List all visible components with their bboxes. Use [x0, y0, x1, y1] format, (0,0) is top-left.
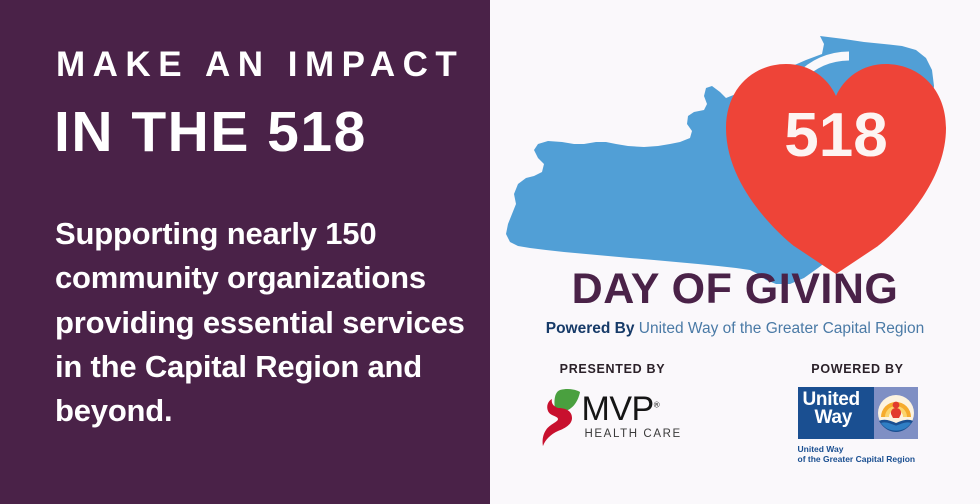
- presented-by-label: PRESENTED BY: [490, 363, 735, 376]
- mvp-brand: MVP®: [582, 392, 682, 426]
- day-of-giving-wordmark: DAY OF GIVING: [506, 268, 964, 311]
- page-title: IN THE 518: [54, 104, 367, 161]
- powered-by-label: Powered By: [546, 320, 635, 337]
- united-way-badge: United Way: [798, 387, 918, 439]
- powered-by-sponsor-label: POWERED BY: [735, 363, 980, 376]
- wordmark-block: DAY OF GIVING Powered By United Way of t…: [506, 268, 964, 337]
- mvp-tagline: HEALTH CARE: [582, 429, 682, 441]
- united-way-hand-rainbow-icon: [874, 387, 918, 439]
- heart-number: 518: [784, 101, 887, 170]
- united-way-logo: United Way: [798, 387, 918, 465]
- sponsor-united-way: POWERED BY United Way: [735, 363, 980, 467]
- sponsor-row: PRESENTED BY MVP® HEALTH CARE POWERED BY: [490, 363, 980, 467]
- powered-by-organization: United Way of the Greater Capital Region: [639, 320, 924, 337]
- day-of-giving-banner: MAKE AN IMPACT IN THE 518 Supporting nea…: [0, 0, 980, 504]
- mvp-health-care-logo: MVP® HEALTH CARE: [538, 387, 688, 449]
- united-way-caption-line1: United Way: [798, 444, 918, 455]
- eyebrow-text: MAKE AN IMPACT: [56, 47, 464, 82]
- new-york-state-heart-icon: 518: [504, 34, 966, 286]
- left-message-panel: MAKE AN IMPACT IN THE 518 Supporting nea…: [0, 0, 490, 504]
- powered-by-line: Powered By United Way of the Greater Cap…: [506, 320, 964, 337]
- registered-mark-icon: ®: [654, 400, 659, 409]
- mvp-brand-text: MVP: [582, 390, 654, 428]
- mvp-apple-leaf-icon: [538, 387, 584, 447]
- united-way-line2: Way: [803, 409, 874, 427]
- united-way-caption-line2: of the Greater Capital Region: [798, 454, 918, 465]
- right-logo-panel: 518 DAY OF GIVING Powered By United Way …: [490, 0, 980, 504]
- united-way-caption: United Way of the Greater Capital Region: [798, 444, 918, 465]
- day-of-giving-logo: 518 DAY OF GIVING Powered By United Way …: [490, 16, 980, 356]
- sponsor-mvp-health-care: PRESENTED BY MVP® HEALTH CARE: [490, 363, 735, 467]
- subcopy-text: Supporting nearly 150 community organiza…: [55, 212, 475, 434]
- mvp-text-block: MVP® HEALTH CARE: [582, 392, 682, 441]
- united-way-symbol-panel: [874, 387, 918, 439]
- united-way-badge-text: United Way: [798, 387, 874, 439]
